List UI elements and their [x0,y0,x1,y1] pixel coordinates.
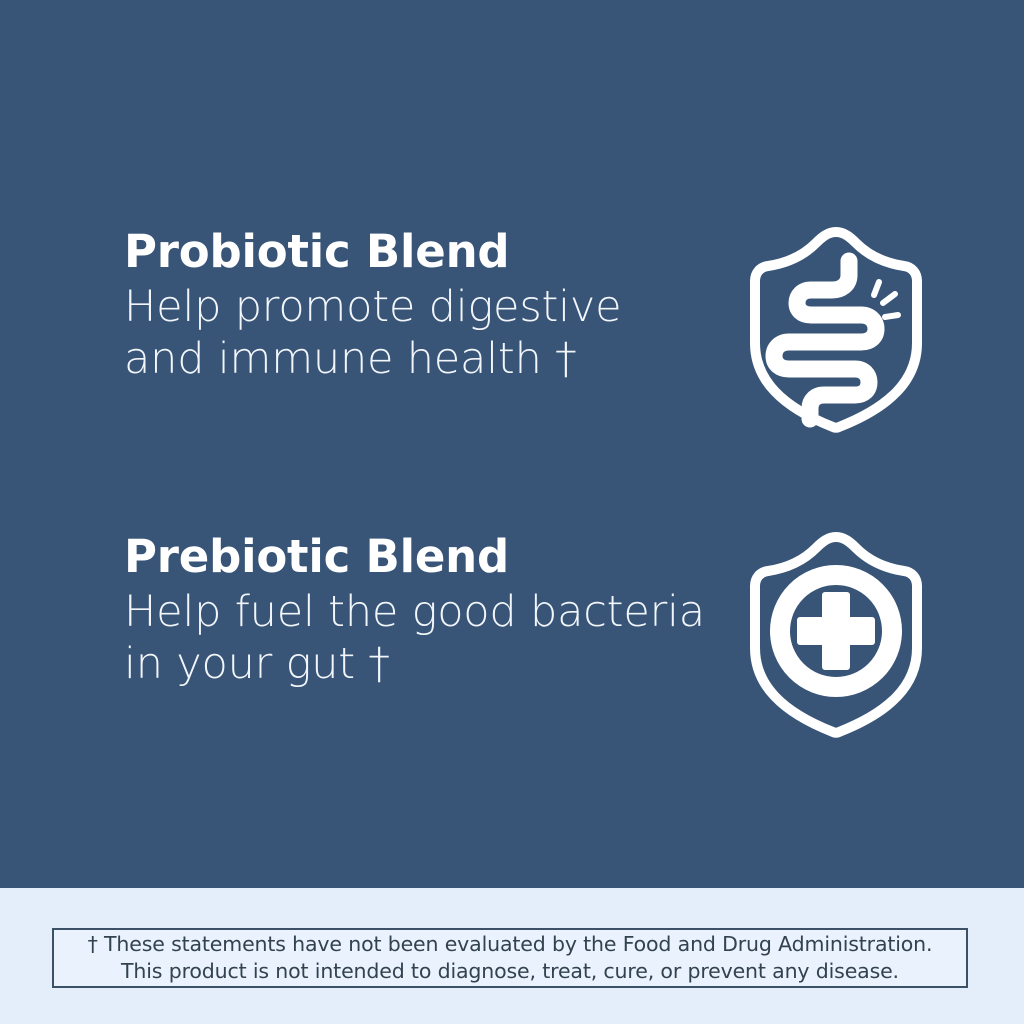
feature-text-block: Probiotic Blend Help promote digestive a… [124,223,724,385]
disclaimer-text: † These statements have not been evaluat… [88,931,933,985]
shield-medical-cross-icon [748,530,924,740]
feature-description: Help fuel the good bacteria in your gut … [124,585,724,690]
shield-intestine-icon [748,225,924,435]
feature-description-line: in your gut † [124,638,724,690]
feature-description-line: Help promote digestive [124,281,724,333]
promo-graphic-root: Probiotic Blend Help promote digestive a… [0,0,1024,1024]
sparkle-lines [874,282,898,317]
cross-shape [800,595,872,667]
shield-medical-cross-glyph [748,530,924,740]
main-panel: Probiotic Blend Help promote digestive a… [0,0,1024,888]
footer-band: † These statements have not been evaluat… [0,888,1024,1024]
feature-description-line: Help fuel the good bacteria [124,586,724,638]
disclaimer-box: † These statements have not been evaluat… [52,928,968,988]
feature-row: Probiotic Blend Help promote digestive a… [0,223,1024,433]
intestine-path [774,261,876,419]
feature-text-block: Prebiotic Blend Help fuel the good bacte… [124,528,724,690]
shield-intestine-glyph [748,225,924,435]
feature-description-line: and immune health † [124,333,724,385]
feature-row: Prebiotic Blend Help fuel the good bacte… [0,528,1024,738]
feature-title: Probiotic Blend [124,223,724,280]
feature-description: Help promote digestive and immune health… [124,280,724,385]
feature-title: Prebiotic Blend [124,528,724,585]
